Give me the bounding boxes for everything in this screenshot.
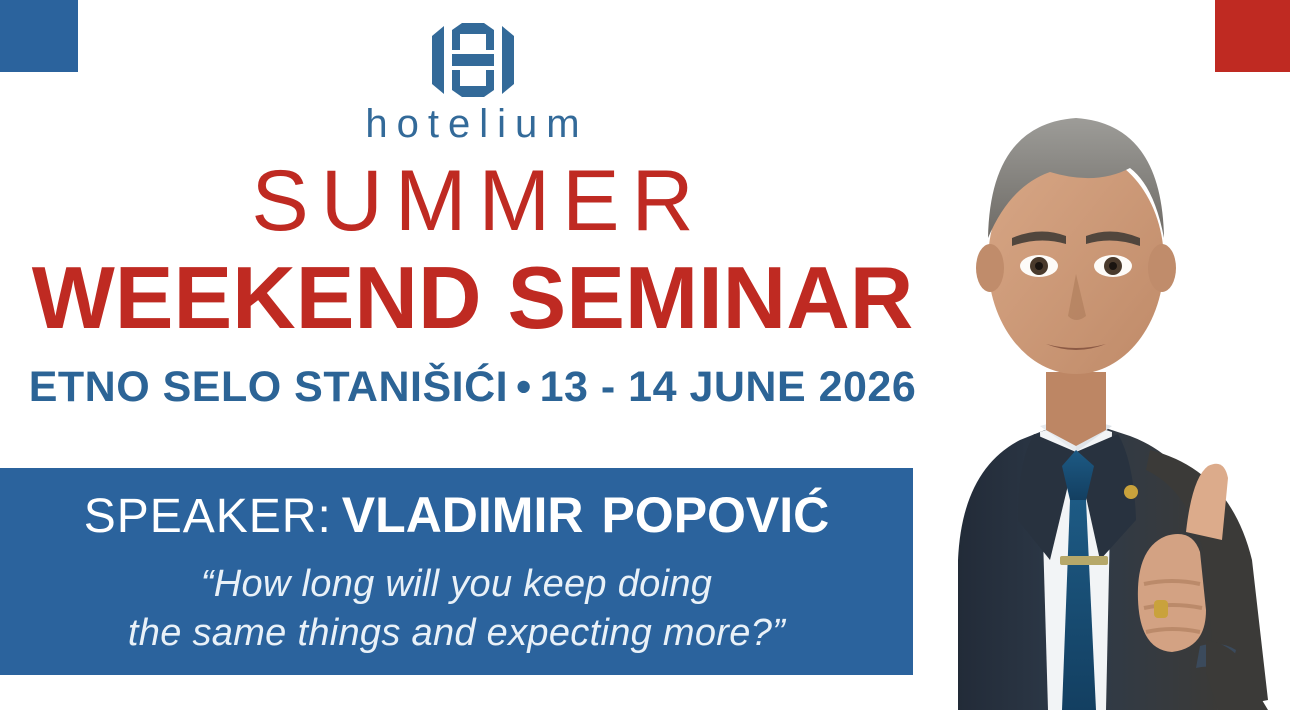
speaker-quote: “How long will you keep doing the same t… (0, 560, 913, 657)
headline-weekend-seminar: WEEKENDSEMINAR (0, 254, 945, 342)
speaker-name: VLADIMIRPOPOVIĆ (332, 487, 830, 543)
event-dates: 13 - 14 JUNE 2026 (540, 363, 917, 411)
seminar-promo-banner: hotelium SUMMER WEEKENDSEMINAR ETNO SELO… (0, 0, 1290, 710)
hotelium-h-monogram-icon (430, 22, 516, 98)
speaker-last-name: POPOVIĆ (601, 487, 829, 543)
event-venue: ETNO SELO STANIŠIĆI (29, 363, 508, 411)
speaker-first-name: VLADIMIR (342, 487, 584, 543)
headline-group: SUMMER WEEKENDSEMINAR ETNO SELO STANIŠIĆ… (0, 158, 945, 409)
headline-weekend: WEEKEND (32, 248, 482, 347)
quote-line-1: “How long will you keep doing (0, 560, 913, 609)
brand-wordmark: hotelium (356, 104, 588, 144)
event-details: ETNO SELO STANIŠIĆI•13 - 14 JUNE 2026 (0, 366, 945, 409)
speaker-label: SPEAKER: (84, 490, 332, 543)
separator-bullet: • (508, 366, 540, 409)
headline-seminar: SEMINAR (508, 248, 914, 347)
speaker-heading: SPEAKER:VLADIMIRPOPOVIĆ (0, 490, 913, 541)
speaker-portrait-illustration (900, 0, 1290, 710)
quote-line-2: the same things and expecting more?” (0, 609, 913, 658)
headline-summer: SUMMER (0, 158, 945, 244)
speaker-portrait-thumbs-up (900, 0, 1290, 710)
brand-logo: hotelium (0, 22, 945, 144)
speaker-band: SPEAKER:VLADIMIRPOPOVIĆ “How long will y… (0, 468, 913, 675)
